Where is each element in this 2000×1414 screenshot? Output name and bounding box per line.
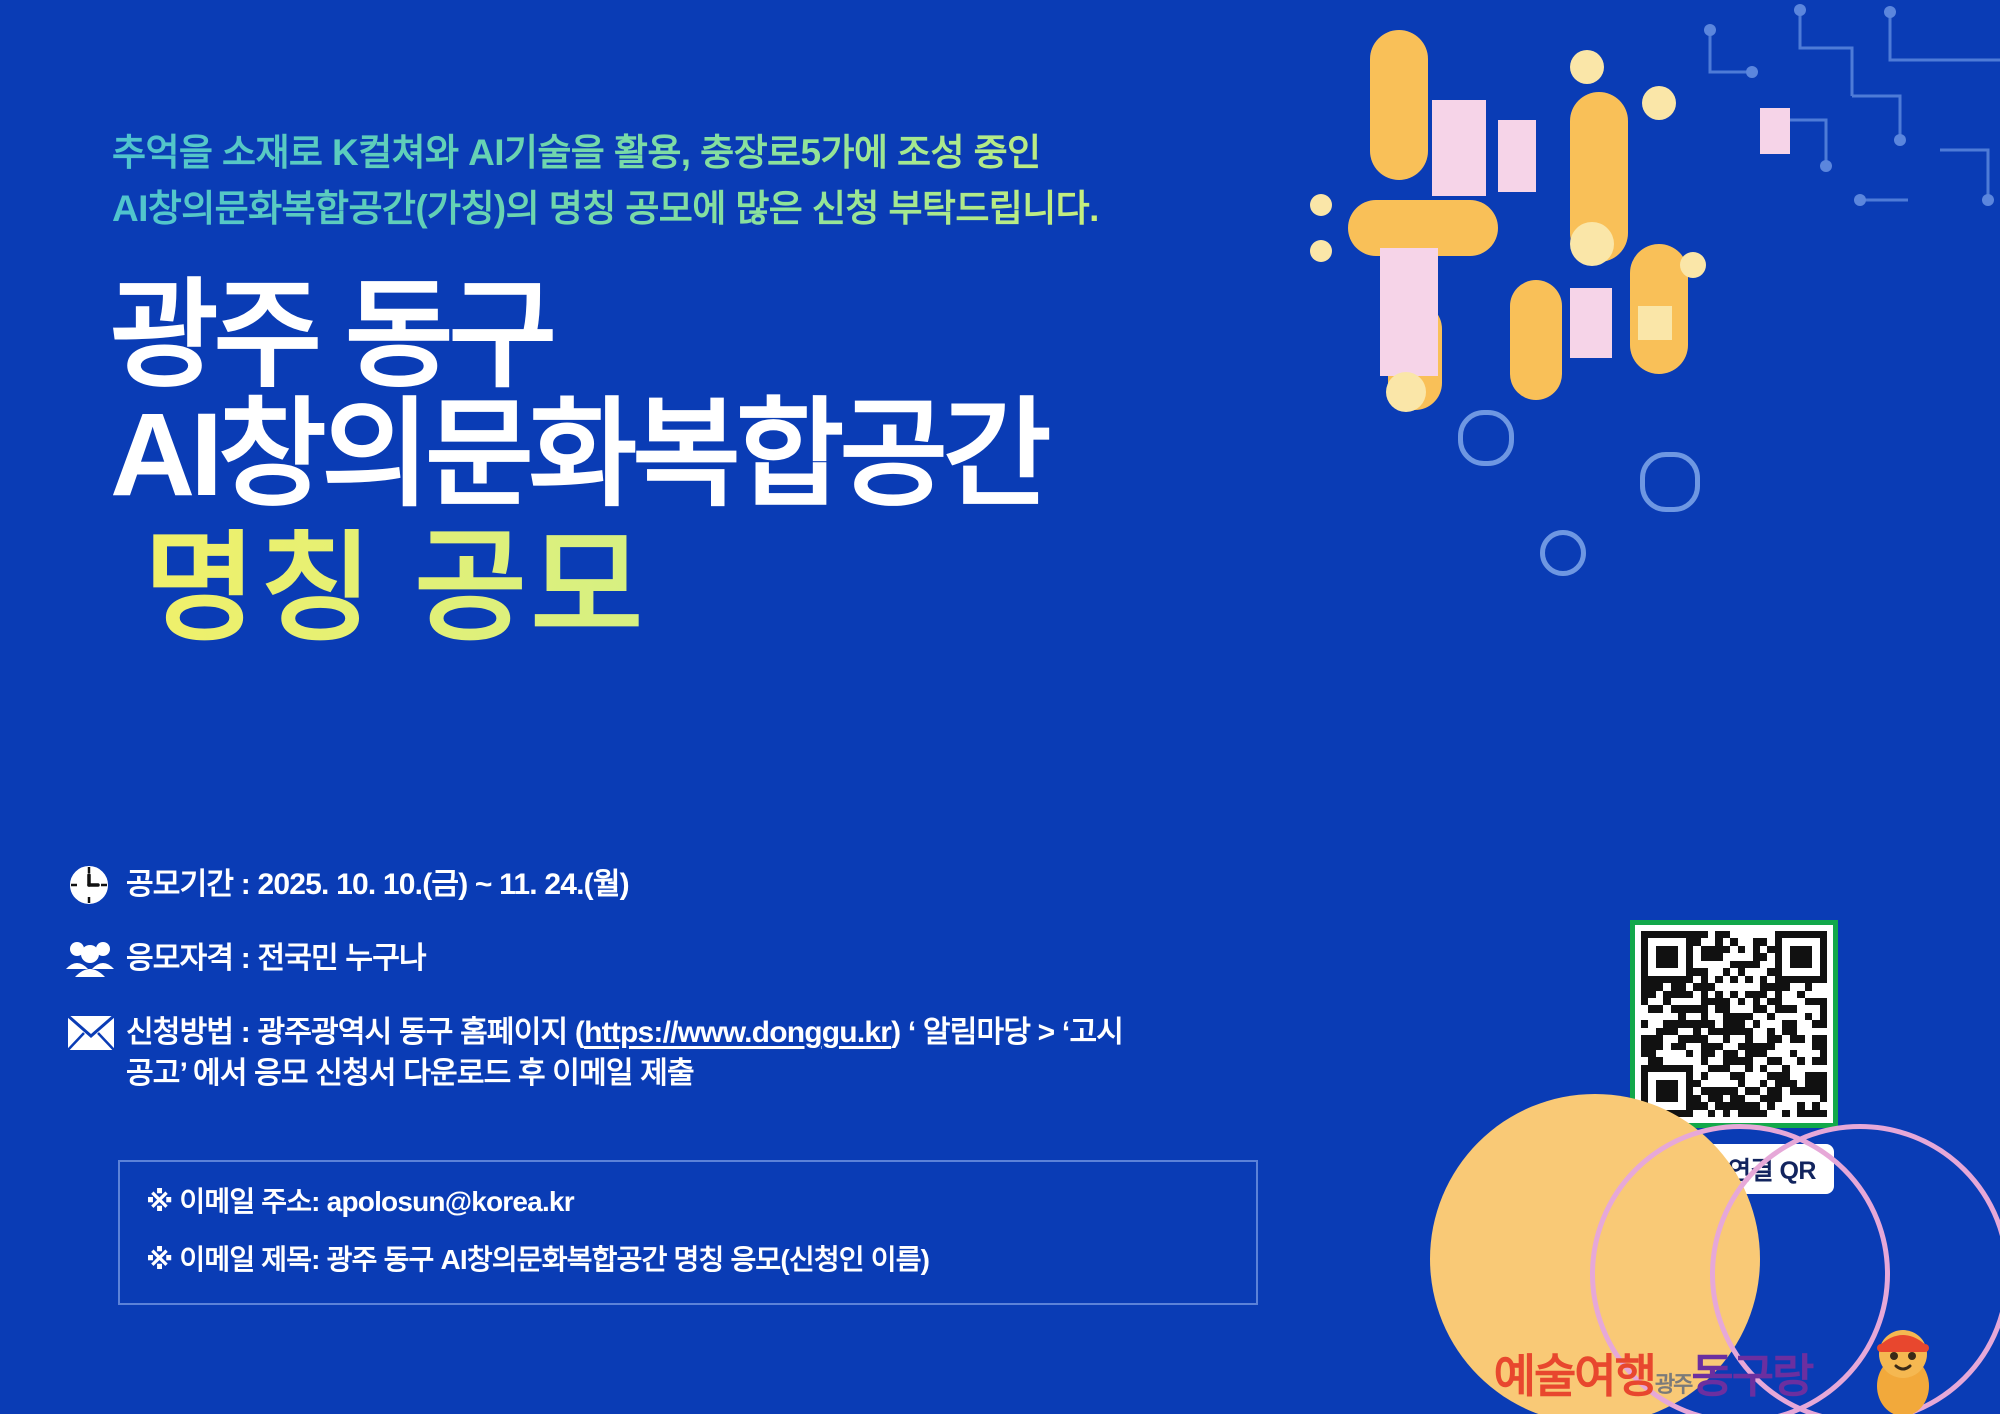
deco-dot-cream-2 <box>1642 86 1676 120</box>
info-eligibility-text: 응모자격 : 전국민 누구나 <box>126 936 426 979</box>
deco-rect-pink-4 <box>1570 288 1612 358</box>
deco-pill-orange-4 <box>1630 244 1688 374</box>
info-row-method: 신청방법 : 광주광역시 동구 홈페이지 (https://www.donggu… <box>66 1010 1246 1095</box>
envelope-icon <box>66 1010 126 1056</box>
donggu-homepage-link[interactable]: https://www.donggu.kr <box>584 1016 891 1049</box>
clock-icon <box>66 862 126 908</box>
logo-wordmark: 예술여행광주동구랑 <box>1418 1340 1888 1406</box>
deco-pill-orange-3 <box>1570 92 1628 262</box>
deco-dot-cream-1 <box>1570 50 1604 84</box>
logo-text-main: 예술여행 <box>1494 1350 1655 1402</box>
people-icon <box>66 936 126 982</box>
deco-ring-3 <box>1540 530 1586 576</box>
info-list: 공모기간 : 2025. 10. 10.(금) ~ 11. 24.(월) 응모자… <box>66 862 1246 1123</box>
deco-dot-cream-7 <box>1680 252 1706 278</box>
info-method-prefix: 신청방법 : 광주광역시 동구 홈페이지 ( <box>126 1016 584 1049</box>
logo-text-small: 광주 <box>1655 1372 1691 1397</box>
note-email-subject: ※ 이메일 제목: 광주 동구 AI창의문화복합공간 명칭 응모(신청인 이름) <box>146 1242 1230 1278</box>
note-email-address: ※ 이메일 주소: apolosun@korea.kr <box>146 1184 1230 1220</box>
info-row-eligibility: 응모자격 : 전국민 누구나 <box>66 936 1246 982</box>
notes-box: ※ 이메일 주소: apolosun@korea.kr ※ 이메일 제목: 광주… <box>118 1160 1258 1305</box>
info-method-text: 신청방법 : 광주광역시 동구 홈페이지 (https://www.donggu… <box>126 1010 1123 1095</box>
donggu-logo: 예술여행광주동구랑 <box>1410 1054 2000 1414</box>
info-row-period: 공모기간 : 2025. 10. 10.(금) ~ 11. 24.(월) <box>66 862 1246 908</box>
deco-square-cream-1 <box>1638 306 1672 340</box>
deco-pill-orange-5 <box>1510 280 1562 400</box>
deco-dot-cream-3 <box>1570 222 1614 266</box>
poster-canvas: 추억을 소재로 K컬쳐와 AI기술을 활용, 충장로5가에 조성 중인 AI창의… <box>0 0 2000 1414</box>
title-line-3: 명칭 공모 <box>144 529 1510 646</box>
subtitle-text: 추억을 소재로 K컬쳐와 AI기술을 활용, 충장로5가에 조성 중인 AI창의… <box>112 125 1532 237</box>
page-title: 광주 동구 AI창의문화복합공간 명칭 공모 <box>110 280 1510 646</box>
deco-rect-pink-5 <box>1760 108 1790 154</box>
mascot-icon <box>1864 1324 1942 1414</box>
title-line-2: AI창의문화복합공간 <box>110 399 1510 512</box>
logo-text-end: 동구랑 <box>1691 1350 1812 1402</box>
info-period-text: 공모기간 : 2025. 10. 10.(금) ~ 11. 24.(월) <box>126 862 629 905</box>
title-line-1: 광주 동구 <box>110 280 1510 393</box>
deco-ring-2 <box>1640 452 1700 512</box>
deco-dot-cream-6 <box>1310 240 1332 262</box>
